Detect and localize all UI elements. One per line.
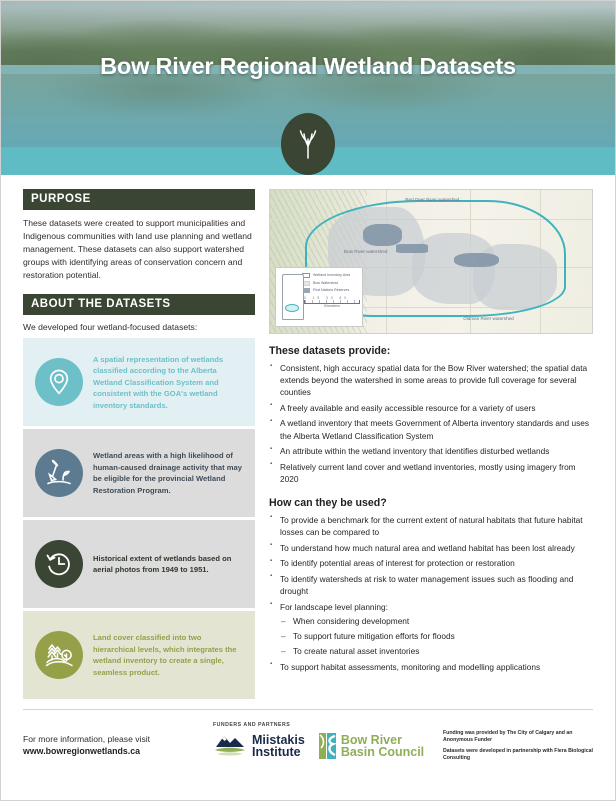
partners-caption: FUNDERS AND PARTNERS — [213, 722, 429, 728]
usage-sublist: When considering development To support … — [280, 615, 593, 657]
provide-list: Consistent, high accuracy spatial data f… — [269, 362, 593, 485]
credit-line: Datasets were developed in partnership w… — [443, 748, 593, 762]
list-item: Consistent, high accuracy spatial data f… — [269, 362, 593, 398]
provide-heading: These datasets provide: — [269, 345, 593, 357]
dataset-card-text: Wetland areas with a high likelihood of … — [93, 450, 245, 496]
legend-row: First Nations Reserves — [302, 288, 360, 293]
map-label-red-deer: Red Deer River watershed — [405, 197, 459, 202]
footer-contact: For more information, please visit www.b… — [23, 722, 199, 756]
sub-list-item: To create natural asset inventories — [280, 645, 593, 657]
about-intro: We developed four wetland-focused datase… — [23, 322, 255, 332]
river-leaf-icon — [319, 733, 336, 759]
shovel-plant-icon — [35, 449, 83, 497]
dataset-card-historical-wetlands: Historical extent of wetlands based on a… — [23, 520, 255, 608]
dataset-card-drained-wetlands: Wetland areas with a high likelihood of … — [23, 429, 255, 517]
footer-credits: Funding was provided by The City of Calg… — [443, 722, 593, 762]
bow-river-basin-council-logo[interactable]: Bow River Basin Council — [319, 733, 424, 759]
usage-heading: How can they be used? — [269, 497, 593, 509]
sub-list-item: To support future mitigation efforts for… — [280, 630, 593, 642]
map-legend: Wetland Inventory Area Bow Watershed Fir… — [275, 267, 363, 327]
map-scale-bar: 0 15 30 60 Kilometers — [304, 296, 360, 308]
credit-line: Funding was provided by The City of Calg… — [443, 730, 593, 744]
legend-label: Bow Watershed — [313, 281, 338, 285]
right-column: Red Deer River watershed Bow River water… — [269, 189, 593, 699]
logo-line-2: Institute — [252, 746, 305, 759]
map-label-bow-river: Bow River watershed — [344, 249, 387, 254]
cattail-grass-icon — [281, 113, 335, 175]
mountain-icon — [213, 733, 247, 759]
list-item: To identify watersheds at risk to water … — [269, 573, 593, 597]
list-item: For landscape level planning: — [269, 601, 593, 613]
legend-label: First Nations Reserves — [313, 288, 349, 292]
footer-partners: FUNDERS AND PARTNERS Miistakis Institute — [213, 722, 429, 759]
page-title: Bow River Regional Wetland Datasets — [1, 53, 615, 80]
sub-list-item: When considering development — [280, 615, 593, 627]
map-label-oldman: Oldman River watershed — [463, 316, 514, 321]
clock-rewind-icon — [35, 540, 83, 588]
purpose-body: These datasets were created to support m… — [23, 217, 255, 281]
about-heading: ABOUT THE DATASETS — [23, 294, 255, 315]
legend-row: Bow Watershed — [302, 281, 360, 286]
legend-row: Wetland Inventory Area — [302, 273, 360, 278]
map-pin-icon — [35, 358, 83, 406]
list-item: Relatively current land cover and wetlan… — [269, 461, 593, 485]
list-item: To understand how much natural area and … — [269, 542, 593, 554]
list-item: To identify potential areas of interest … — [269, 557, 593, 569]
dataset-card-text: A spatial representation of wetlands cla… — [93, 354, 245, 412]
list-item: A freely available and easily accessible… — [269, 402, 593, 414]
alberta-study-area-marker — [285, 304, 299, 312]
factsheet-page: Bow River Regional Wetland Datasets PURP… — [0, 0, 616, 801]
scale-caption: Kilometers — [304, 304, 360, 308]
footer-info-line: For more information, please visit — [23, 734, 199, 744]
landscape-trees-icon — [35, 631, 83, 679]
alberta-outline — [282, 274, 304, 320]
usage-list: To provide a benchmark for the current e… — [269, 514, 593, 613]
dataset-card-wetland-inventory: A spatial representation of wetlands cla… — [23, 338, 255, 426]
dataset-card-land-cover: Land cover classified into two hierarchi… — [23, 611, 255, 699]
legend-items: Wetland Inventory Area Bow Watershed Fir… — [301, 268, 362, 326]
list-item: A wetland inventory that meets Governmen… — [269, 417, 593, 441]
left-column: PURPOSE These datasets were created to s… — [23, 189, 255, 699]
partner-logos: Miistakis Institute Bow River Basin Coun… — [213, 733, 429, 759]
usage-list-last: To support habitat assessments, monitori… — [269, 661, 593, 673]
footer-website-link[interactable]: www.bowregionwetlands.ca — [23, 746, 199, 756]
dataset-card-text: Historical extent of wetlands based on a… — [93, 553, 245, 576]
list-item: An attribute within the wetland inventor… — [269, 445, 593, 457]
watershed-map: Red Deer River watershed Bow River water… — [269, 189, 593, 334]
footer: For more information, please visit www.b… — [1, 710, 615, 762]
legend-label: Wetland Inventory Area — [313, 273, 350, 277]
list-item: To support habitat assessments, monitori… — [269, 661, 593, 673]
alberta-locator-map — [276, 268, 301, 326]
list-item: To provide a benchmark for the current e… — [269, 514, 593, 538]
dataset-card-text: Land cover classified into two hierarchi… — [93, 632, 245, 678]
logo-line-2: Basin Council — [341, 746, 424, 759]
content-area: PURPOSE These datasets were created to s… — [1, 175, 615, 699]
miistakis-institute-logo[interactable]: Miistakis Institute — [213, 733, 305, 759]
purpose-heading: PURPOSE — [23, 189, 255, 210]
